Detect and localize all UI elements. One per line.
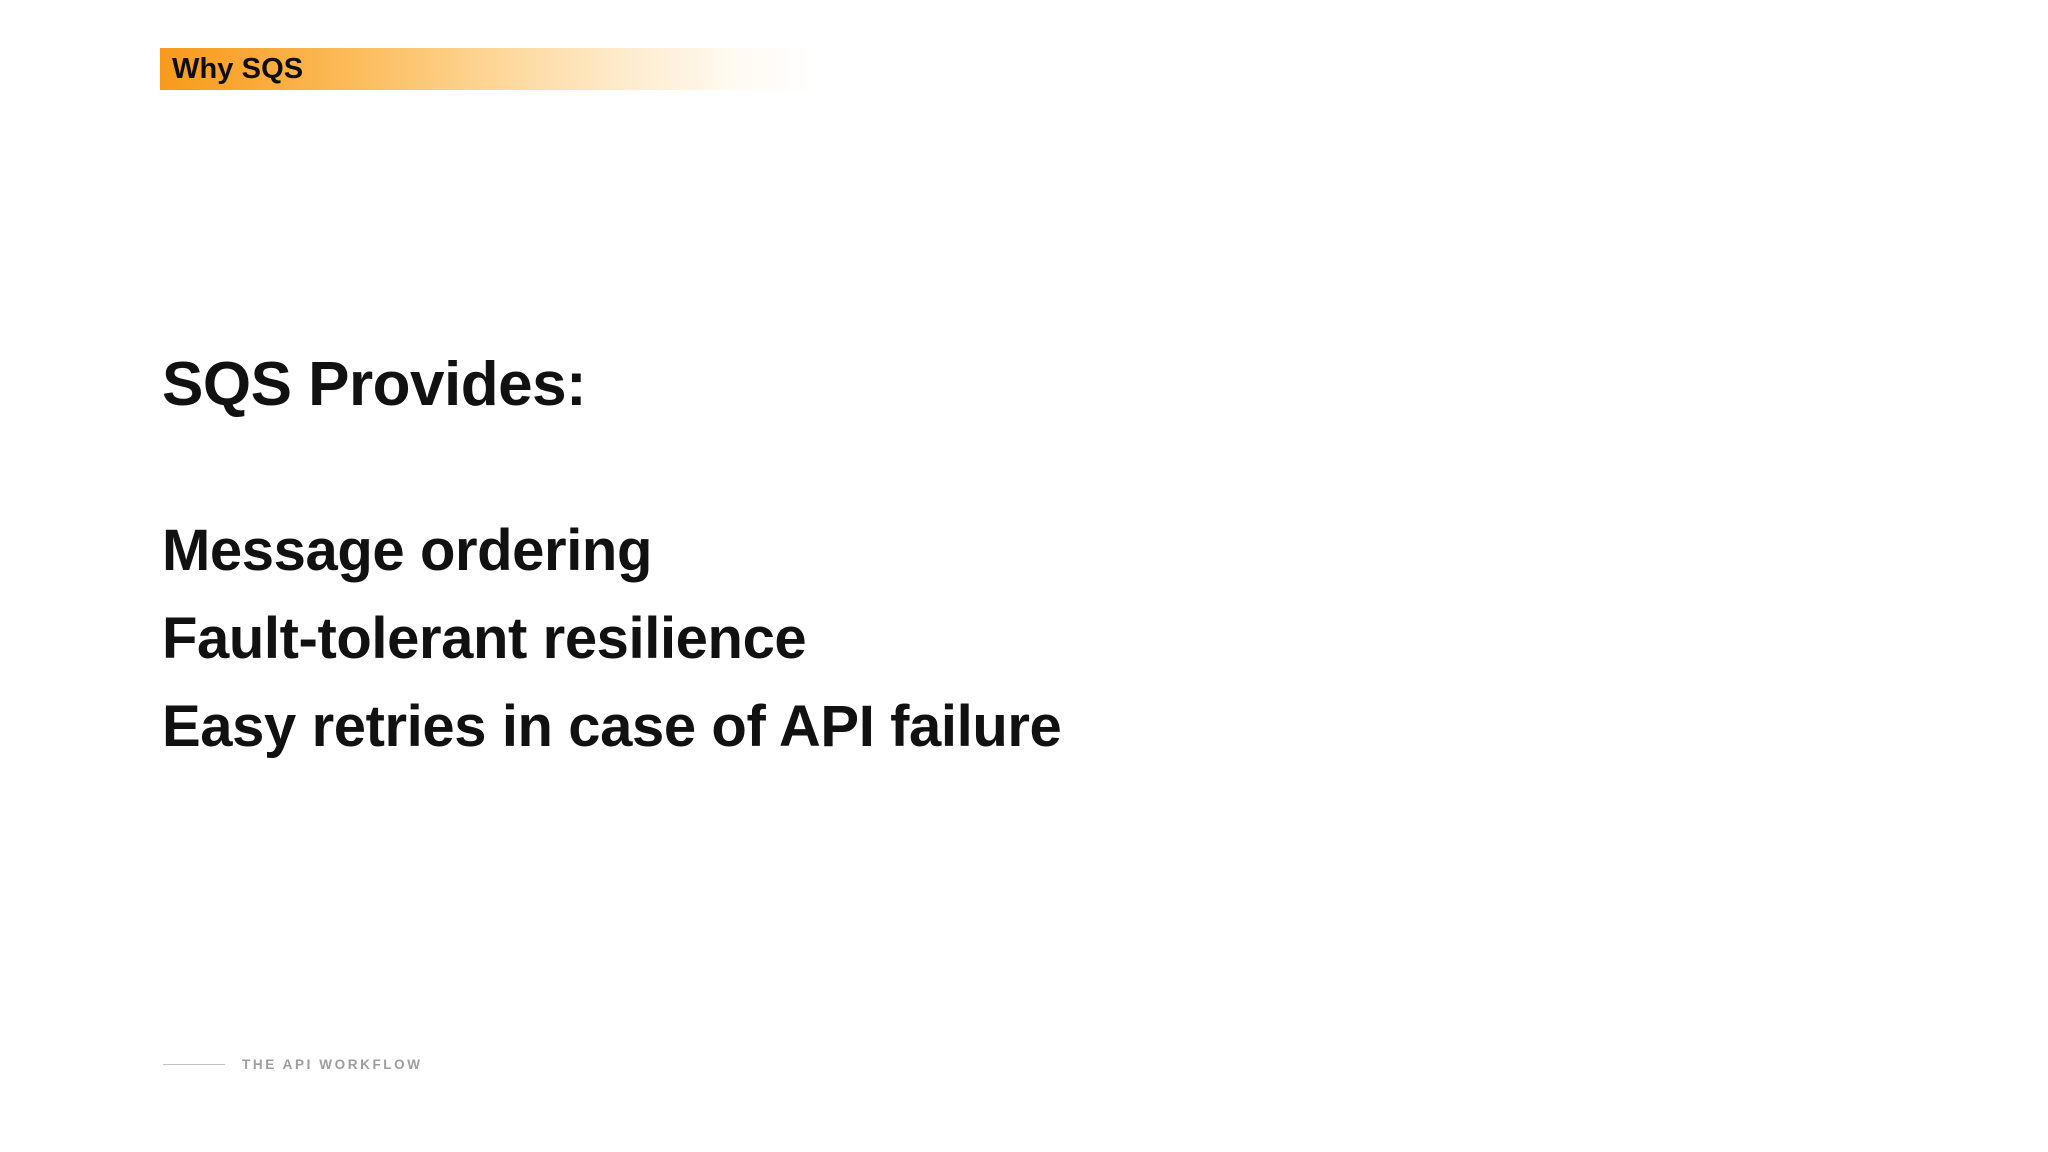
slide: Why SQS SQS Provides: Message ordering F… [0,0,2048,1152]
feature-list: Message ordering Fault-tolerant resilien… [162,507,1762,771]
footer-divider [163,1064,225,1065]
list-item: Fault-tolerant resilience [162,595,1762,683]
slide-footer: THE API WORKFLOW [163,1057,423,1072]
slide-content: SQS Provides: Message ordering Fault-tol… [162,352,1762,771]
footer-label: THE API WORKFLOW [242,1057,423,1072]
section-header-title: Why SQS [172,48,303,90]
list-item: Easy retries in case of API failure [162,683,1762,771]
list-item: Message ordering [162,507,1762,595]
page-title: SQS Provides: [162,352,1762,419]
